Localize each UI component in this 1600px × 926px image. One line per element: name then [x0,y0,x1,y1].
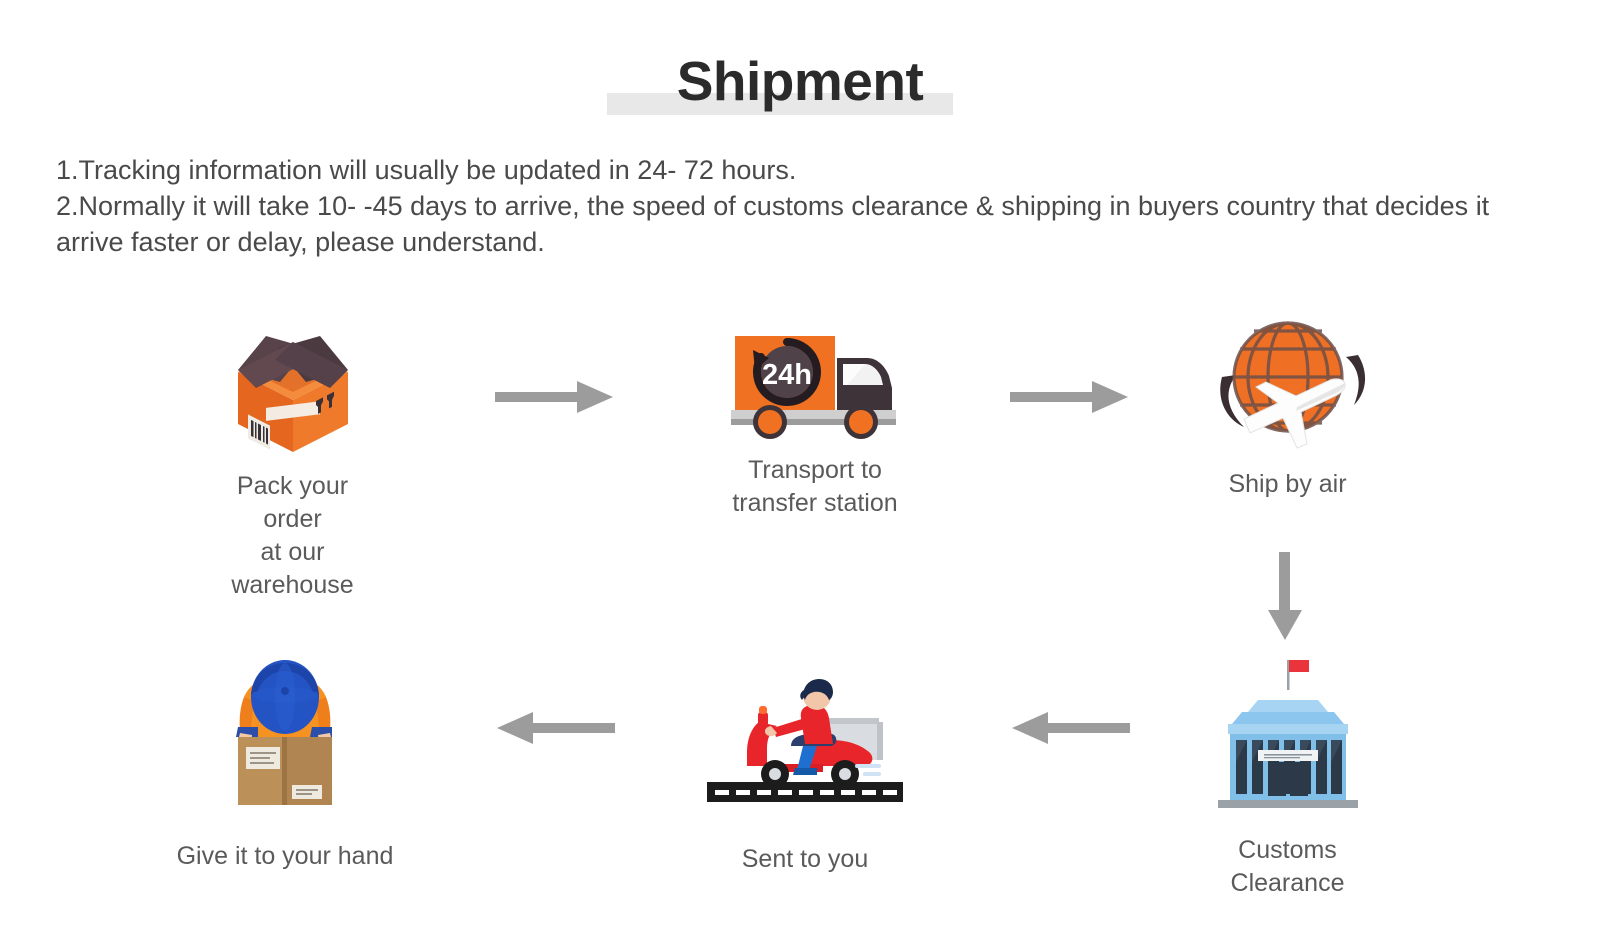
truck-24h-badge: 24h [762,359,812,391]
arrow-customs-to-sent [1010,706,1130,750]
step-label: Sent to you [705,843,905,876]
step-give-to-hand: Give it to your hand [220,645,350,873]
step-customs-clearance: Customs Clearance [1200,650,1375,900]
courier-package-icon [220,645,350,810]
title-block: Shipment [0,42,1600,122]
step-label: Customs Clearance [1200,834,1375,900]
step-label: Give it to your hand [135,840,435,873]
delivery-truck-icon: 24h [725,322,905,442]
page-title: Shipment [0,42,1600,120]
shipping-policy-text: 1.Tracking information will usually be u… [56,152,1526,260]
step-label: Transport to transfer station [725,454,905,520]
step-ship-by-air: Ship by air [1200,315,1375,501]
arrow-transport-to-air [1010,375,1130,419]
customs-building-icon [1200,650,1375,810]
scooter-courier-icon [705,660,905,805]
arrow-sent-to-hand [495,706,615,750]
step-sent-to-you: Sent to you [705,660,905,876]
step-pack-order: Pack your order at our warehouse [205,312,380,602]
open-box-icon [208,312,378,452]
arrow-air-to-customs [1263,552,1307,642]
step-label: Ship by air [1200,468,1375,501]
globe-airplane-icon [1200,315,1375,450]
arrow-pack-to-transport [495,375,615,419]
step-transport: 24h Transport to transfer station [725,322,905,520]
step-label: Pack your order at our warehouse [205,470,380,602]
